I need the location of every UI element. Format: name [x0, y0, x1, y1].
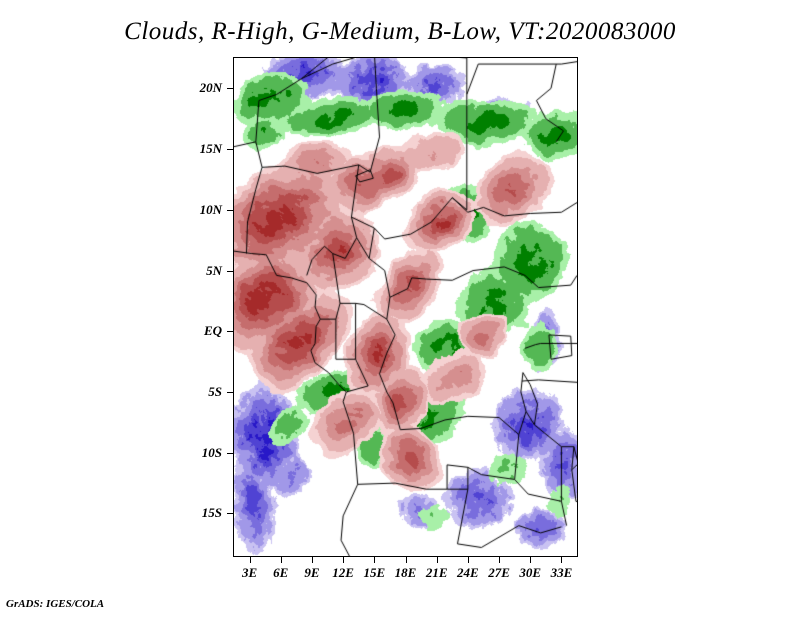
x-tick — [561, 557, 562, 563]
y-axis-label: 10S — [0, 445, 222, 461]
x-axis-label: 15E — [363, 565, 385, 581]
x-tick — [312, 557, 313, 563]
page-title: Clouds, R-High, G-Medium, B-Low, VT:2020… — [0, 18, 800, 46]
plot-frame — [233, 57, 578, 557]
x-tick — [406, 557, 407, 563]
y-axis-label: 15S — [0, 505, 222, 521]
map-plot-area — [233, 57, 578, 557]
x-axis-label: 12E — [332, 565, 354, 581]
x-axis-label: 21E — [426, 565, 448, 581]
x-axis-label: 30E — [519, 565, 541, 581]
grads-attribution: GrADS: IGES/COLA — [6, 598, 104, 610]
x-tick — [281, 557, 282, 563]
x-tick — [530, 557, 531, 563]
y-axis-label: 15N — [0, 141, 222, 157]
x-tick — [499, 557, 500, 563]
x-tick — [343, 557, 344, 563]
y-axis-label: 5N — [0, 263, 222, 279]
x-axis-label: 9E — [304, 565, 319, 581]
y-axis-label: EQ — [0, 323, 222, 339]
y-axis-label: 20N — [0, 80, 222, 96]
y-axis-label: 10N — [0, 202, 222, 218]
x-axis-label: 33E — [551, 565, 573, 581]
x-tick — [250, 557, 251, 563]
x-tick — [468, 557, 469, 563]
x-axis-label: 27E — [488, 565, 510, 581]
x-axis-label: 6E — [273, 565, 288, 581]
x-axis-label: 24E — [457, 565, 479, 581]
country-borders-layer — [234, 58, 577, 556]
x-axis-label: 18E — [395, 565, 417, 581]
y-axis-label: 5S — [0, 384, 222, 400]
x-tick — [374, 557, 375, 563]
x-tick — [437, 557, 438, 563]
x-axis-label: 3E — [242, 565, 257, 581]
